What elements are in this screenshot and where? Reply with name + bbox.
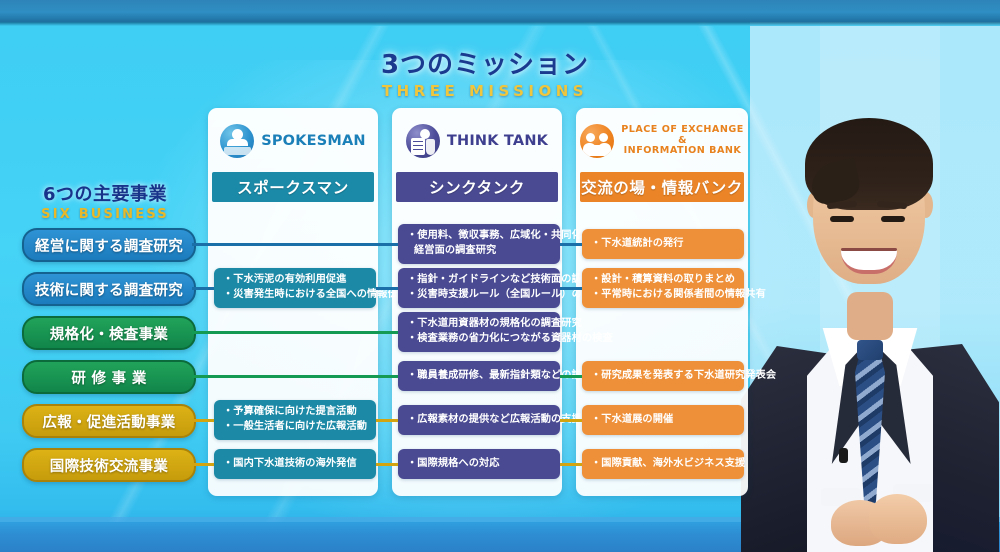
matrix-cell-r1-c3[interactable]: ・下水道統計の発行	[582, 229, 744, 259]
matrix-cell-line: ・下水道用資器材の規格化の調査研究	[407, 317, 551, 332]
presenter-figure	[735, 96, 1000, 552]
presenter-eye-left	[830, 216, 854, 222]
connector-line	[560, 375, 582, 378]
presenter-eye-right	[881, 216, 905, 222]
connector-line	[192, 243, 398, 246]
matrix-cell-r6-c2[interactable]: ・国際規格への対応	[398, 449, 560, 479]
sidebar-heading-jp: 6つの主要事業	[12, 180, 198, 206]
sidebar-item-2[interactable]: 技術に関する調査研究	[22, 272, 196, 306]
sidebar-item-label: 経営に関する調査研究	[35, 235, 183, 256]
connector-line	[560, 243, 582, 246]
two-people-icon	[580, 124, 614, 158]
column-header-think-tank: THINK TANK	[396, 116, 558, 166]
matrix-cell-line: ・国際貢献、海外水ビジネス支援	[591, 457, 735, 472]
sidebar-item-label: 技術に関する調査研究	[35, 279, 183, 300]
column-bar-spokesman: スポークスマン	[212, 172, 374, 202]
matrix-cell-line: ・予算確保に向けた提言活動	[223, 405, 367, 420]
matrix-cell-r3-c2[interactable]: ・下水道用資器材の規格化の調査研究・検査業務の省力化につながる資器材の検査	[398, 312, 560, 352]
matrix-cell-line: ・一般生活者に向けた広報活動	[223, 420, 367, 435]
connector-line	[192, 375, 398, 378]
page-title: 3つのミッション THREE MISSIONS	[300, 52, 670, 100]
column-header-place-of-exchange-en-line3: INFORMATION BANK	[621, 146, 744, 157]
column-bar-think-tank: シンクタンク	[396, 172, 558, 202]
sidebar-item-5[interactable]: 広報・促進活動事業	[22, 404, 196, 438]
sidebar-item-label: 規格化・検査事業	[50, 323, 168, 344]
background-top-band-edge	[0, 22, 1000, 26]
presenter-mouth-line	[841, 248, 897, 251]
connector-line	[560, 419, 582, 422]
background-top-band	[0, 0, 1000, 22]
studio-stage: 3つのミッション THREE MISSIONS 6つの主要事業 SIX BUSI…	[0, 0, 1000, 552]
column-header-think-tank-en: THINK TANK	[447, 133, 548, 149]
matrix-cell-r5-c1[interactable]: ・予算確保に向けた提言活動・一般生活者に向けた広報活動	[214, 400, 376, 440]
matrix-cell-line: ・災害発生時における全国への情報伝達等	[223, 288, 367, 303]
matrix-cell-line: ・広報素材の提供など広報活動の支援	[407, 413, 551, 428]
matrix-cell-line: ・国際規格への対応	[407, 457, 551, 472]
sidebar-item-1[interactable]: 経営に関する調査研究	[22, 228, 196, 262]
matrix-cell-line: ・下水道展の開催	[591, 413, 735, 428]
matrix-cell-r2-c1[interactable]: ・下水汚泥の有効利用促進・災害発生時における全国への情報伝達等	[214, 268, 376, 308]
column-header-spokesman-en: SPOKESMAN	[261, 133, 366, 149]
matrix-cell-line: ・使用料、徴収事務、広域化・共同化など	[407, 229, 551, 244]
matrix-cell-r4-c2[interactable]: ・職員養成研修、最新指針類などの説明会	[398, 361, 560, 391]
matrix-cell-line: ・職員養成研修、最新指針類などの説明会	[407, 369, 551, 384]
connector-line	[560, 287, 582, 290]
matrix-cell-r5-c2[interactable]: ・広報素材の提供など広報活動の支援	[398, 405, 560, 435]
matrix-cell-line: ・下水汚泥の有効利用促進	[223, 273, 367, 288]
column-header-spokesman: SPOKESMAN	[212, 116, 374, 166]
sidebar-item-3[interactable]: 規格化・検査事業	[22, 316, 196, 350]
connector-line	[560, 463, 582, 466]
matrix-cell-r6-c3[interactable]: ・国際貢献、海外水ビジネス支援	[582, 449, 744, 479]
matrix-cell-line: ・下水道統計の発行	[591, 237, 735, 252]
connector-line	[192, 419, 214, 422]
matrix-cell-line: ・国内下水道技術の海外発信	[223, 457, 367, 472]
connector-line	[192, 331, 398, 334]
matrix-cell-r6-c1[interactable]: ・国内下水道技術の海外発信	[214, 449, 376, 479]
sidebar-item-label: 研 修 事 業	[71, 367, 146, 388]
podium-speaker-icon	[220, 124, 254, 158]
sidebar-heading: 6つの主要事業 SIX BUSINESS	[12, 180, 198, 222]
connector-line	[376, 463, 398, 466]
presenter-lapel-mic	[839, 448, 848, 463]
matrix-cell-r5-c3[interactable]: ・下水道展の開催	[582, 405, 744, 435]
matrix-cell-line: ・指針・ガイドラインなど技術面の調査研究	[407, 273, 551, 288]
sidebar-item-6[interactable]: 国際技術交流事業	[22, 448, 196, 482]
column-header-place-of-exchange-en-block: PLACE OF EXCHANGE & INFORMATION BANK	[621, 125, 744, 157]
matrix-cell-line: ・研究成果を発表する下水道研究発表会	[591, 369, 735, 384]
matrix-cell-line: ・平常時における関係者間の情報共有	[591, 288, 735, 303]
sidebar-heading-en: SIX BUSINESS	[12, 207, 198, 222]
matrix-cell-r2-c2[interactable]: ・指針・ガイドラインなど技術面の調査研究・災害時支援ルール（全国ルール）の改定等	[398, 268, 560, 308]
matrix-cell-r2-c3[interactable]: ・設計・積算資料の取りまとめ・平常時における関係者間の情報共有	[582, 268, 744, 308]
connector-line	[192, 287, 214, 290]
column-header-place-of-exchange: PLACE OF EXCHANGE & INFORMATION BANK	[580, 116, 744, 166]
presenter-neck	[847, 292, 893, 340]
matrix-cell-line: ・災害時支援ルール（全国ルール）の改定等	[407, 288, 551, 303]
sidebar-item-label: 広報・促進活動事業	[42, 411, 175, 432]
matrix-cell-r4-c3[interactable]: ・研究成果を発表する下水道研究発表会	[582, 361, 744, 391]
matrix-cell-line: ・検査業務の省力化につながる資器材の検査	[407, 332, 551, 347]
connector-line	[192, 463, 214, 466]
sidebar-item-4[interactable]: 研 修 事 業	[22, 360, 196, 394]
presenter-tie-knot	[857, 340, 883, 360]
page-title-jp: 3つのミッション	[300, 52, 670, 79]
column-header-place-of-exchange-en-line1: PLACE OF EXCHANGE	[621, 125, 744, 136]
connector-line	[376, 287, 398, 290]
matrix-cell-line: 経営面の調査研究	[407, 244, 551, 259]
person-document-icon	[406, 124, 440, 158]
connector-line	[376, 419, 398, 422]
sidebar-item-label: 国際技術交流事業	[50, 455, 168, 476]
matrix-cell-r1-c2[interactable]: ・使用料、徴収事務、広域化・共同化など経営面の調査研究	[398, 224, 560, 264]
column-bar-place-of-exchange: 交流の場・情報バンク	[580, 172, 744, 202]
page-title-en: THREE MISSIONS	[300, 82, 670, 100]
presenter-hand-right	[869, 494, 927, 544]
matrix-cell-line: ・設計・積算資料の取りまとめ	[591, 273, 735, 288]
